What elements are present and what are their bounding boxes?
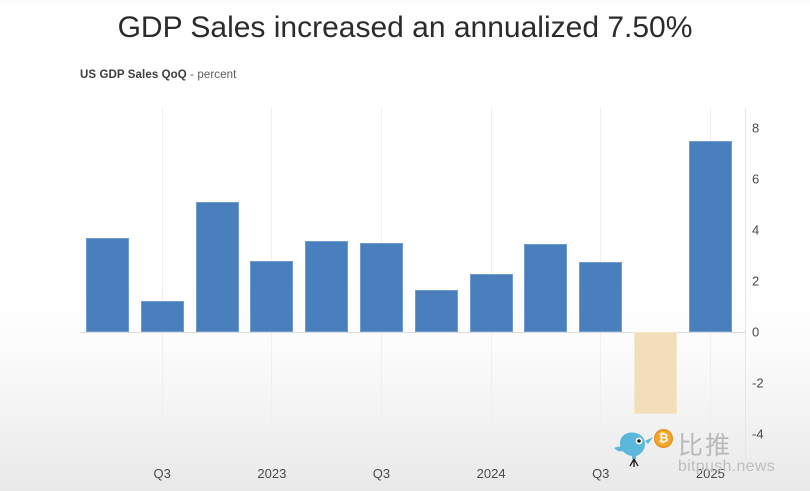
watermark-url: bitpush.news [678, 458, 775, 476]
page-title: GDP Sales increased an annualized 7.50% [0, 11, 810, 45]
grid-line-vertical [162, 108, 163, 460]
chart-subtitle-series: US GDP Sales QoQ [80, 69, 187, 81]
y-axis-line [745, 108, 746, 460]
plot-area [80, 108, 746, 460]
y-axis-tick-label: -2 [752, 376, 764, 391]
y-axis-tick-label: 0 [752, 325, 759, 340]
x-axis-tick-label: Q3 [592, 466, 609, 481]
chart-subtitle-unit: - percent [187, 69, 237, 81]
bar[interactable] [305, 241, 348, 333]
bar[interactable] [360, 243, 403, 332]
bar[interactable] [86, 238, 129, 332]
x-axis-tick-label: 2023 [257, 466, 286, 481]
bar[interactable] [141, 301, 184, 333]
x-axis-tick-label: 2024 [477, 466, 506, 481]
x-axis-tick-label: Q3 [154, 466, 171, 481]
y-axis-tick-label: 4 [752, 223, 759, 238]
bar[interactable] [470, 274, 513, 333]
y-axis-tick-label: -4 [752, 427, 764, 442]
bar[interactable] [689, 141, 732, 332]
chart-subtitle: US GDP Sales QoQ - percent [80, 69, 236, 81]
y-axis-tick-label: 8 [752, 121, 759, 136]
bar[interactable] [415, 290, 458, 332]
bar[interactable] [524, 244, 567, 332]
bar[interactable] [634, 332, 677, 414]
bar[interactable] [250, 261, 293, 332]
x-axis-tick-label: 2025 [696, 466, 725, 481]
bar[interactable] [579, 262, 622, 332]
chart-screenshot: GDP Sales increased an annualized 7.50% … [0, 0, 810, 491]
top-band [0, 0, 810, 5]
x-axis-tick-label: Q3 [373, 466, 390, 481]
bar[interactable] [196, 202, 239, 332]
y-axis-tick-label: 2 [752, 274, 759, 289]
y-axis-tick-label: 6 [752, 172, 759, 187]
